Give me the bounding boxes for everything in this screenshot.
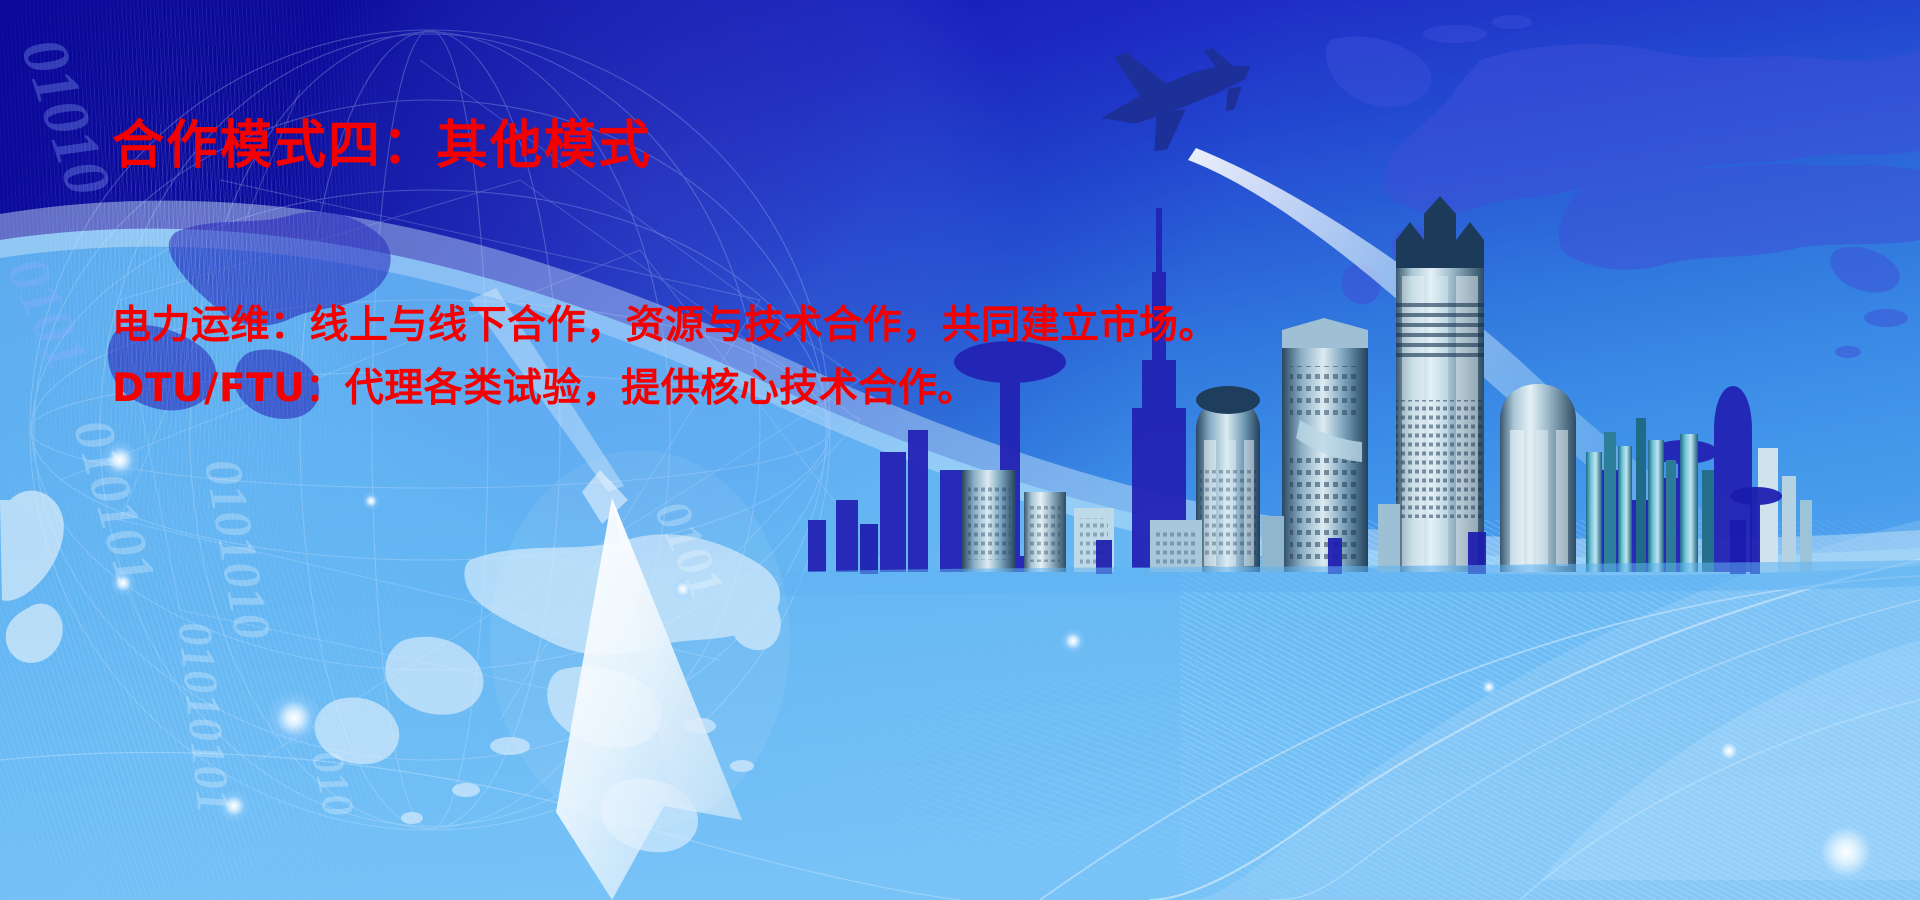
- presentation-slide: 01010 0101 010101 0101010 01010101 0101 …: [0, 0, 1920, 900]
- slide-title: 合作模式四：其他模式: [112, 118, 652, 175]
- body-line-1: 电力运维：线上与线下合作，资源与技术合作，共同建立市场。: [112, 294, 1752, 357]
- body-line-2: DTU/FTU：代理各类试验，提供核心技术合作。: [112, 357, 1752, 420]
- slide-body: 电力运维：线上与线下合作，资源与技术合作，共同建立市场。 DTU/FTU：代理各…: [112, 294, 1752, 420]
